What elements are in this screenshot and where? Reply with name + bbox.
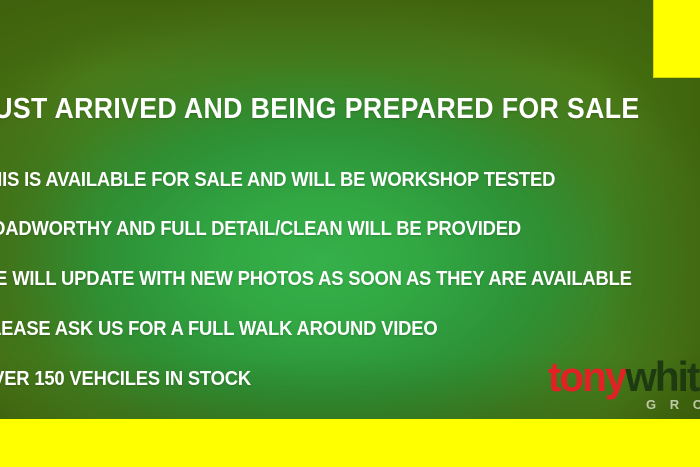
logo-word-white: white — [625, 353, 700, 400]
banner-line-2: ROADWORTHY AND FULL DETAIL/CLEAN WILL BE… — [0, 218, 521, 241]
banner-line-3: WE WILL UPDATE WITH NEW PHOTOS AS SOON A… — [0, 268, 632, 291]
banner-headline: JUST ARRIVED AND BEING PREPARED FOR SALE — [0, 93, 640, 126]
promotional-banner: JUST ARRIVED AND BEING PREPARED FOR SALE… — [0, 0, 700, 467]
dealership-logo: tonywhite G R O U P — [548, 355, 700, 417]
banner-line-1: THIS IS AVAILABLE FOR SALE AND WILL BE W… — [0, 169, 555, 192]
logo-word-tony: tony — [548, 353, 625, 400]
logo-wordmark: tonywhite — [548, 355, 700, 399]
yellow-accent-bar-bottom — [0, 419, 700, 467]
banner-line-5: OVER 150 VEHCILES IN STOCK — [0, 368, 251, 391]
logo-subtext-group: G R O U P — [646, 397, 700, 412]
banner-line-4: PLEASE ASK US FOR A FULL WALK AROUND VID… — [0, 318, 437, 341]
